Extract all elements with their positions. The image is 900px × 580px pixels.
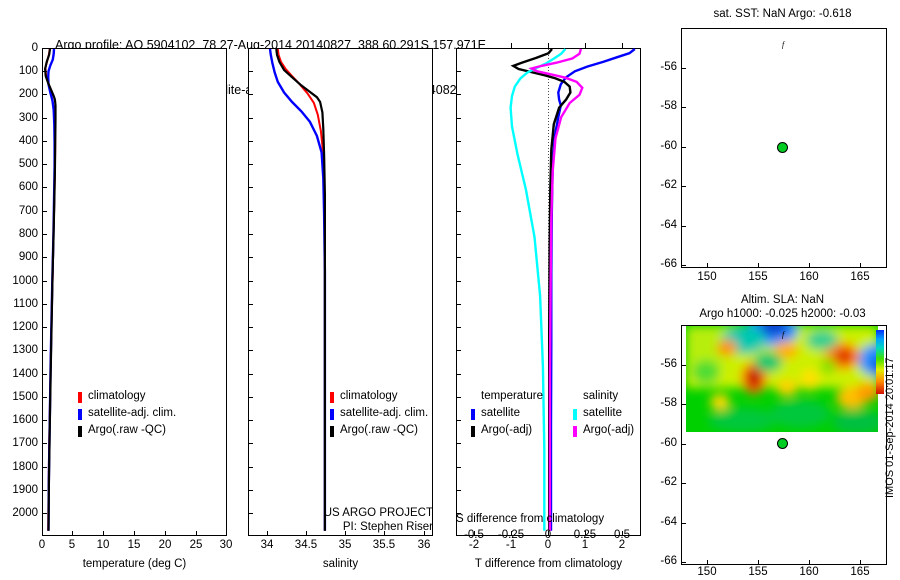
temperature-curves [43,49,226,535]
panel-difference[interactable] [456,48,641,536]
legend-swatch-satellite-adj-clim [78,409,82,420]
curve-temp-argo-adj [513,49,570,531]
curve-salinity-climatology [278,49,325,531]
sla-map-title: Altim. SLA: NaN Argo h1000: -0.025 h2000… [675,293,890,321]
curve-temp-satellite [551,49,635,531]
legend-label-salinity-climatology: climatology [340,390,398,402]
legend-swatch-temp-argo-adj [471,426,475,437]
panel-salinity[interactable] [248,48,433,536]
legend-swatch-climatology [78,392,82,403]
legend-swatch-salinity-argo-raw [330,426,334,437]
sst-map-title: sat. SST: NaN Argo: -0.618 [675,8,890,20]
salinity-axis-label: salinity [248,558,433,570]
legend-label-argo-raw: Argo(.raw -QC) [88,424,166,436]
legend-title-salinity: salinity [583,390,618,402]
legend-title-temperature: temperature [481,390,543,402]
legend-label-sal-satellite: satellite [583,407,622,419]
credit-line-1: US ARGO PROJECT [283,506,433,520]
curve-salinity-satellite-adj [270,49,325,531]
sla-title-line-1: Altim. SLA: NaN [675,293,890,307]
legend-swatch-temp-satellite [471,409,475,420]
difference-top-axis-label: S difference from climatology [456,513,641,525]
panel-temperature[interactable] [42,48,227,536]
float-id-label: f [782,40,786,49]
legend-label-sal-argo-adj: Argo(-adj) [583,424,634,436]
legend-label-climatology: climatology [88,390,146,402]
legend-label-salinity-satellite-adj: satellite-adj. clim. [340,407,428,419]
legend-swatch-sal-satellite [573,409,577,420]
legend-label-salinity-argo-raw: Argo(.raw -QC) [340,424,418,436]
credit-line-2: PI: Stephen Riser [283,520,433,534]
sla-map-float-marker[interactable] [777,438,788,449]
project-credit: US ARGO PROJECT PI: Stephen Riser [283,506,433,534]
imos-timestamp-watermark: IMOS 01-Sep-2014 20:01:17 [884,357,896,498]
legend-label-satellite-adj-clim: satellite-adj. clim. [88,407,176,419]
sst-map-float-marker[interactable] [777,142,788,153]
legend-swatch-salinity-climatology [330,392,334,403]
difference-bottom-axis-label: T difference from climatology [456,558,641,570]
temperature-axis-label: temperature (deg C) [42,558,227,570]
legend-label-temp-argo-adj: Argo(-adj) [481,424,532,436]
difference-curves [457,49,640,535]
sla-title-line-2: Argo h1000: -0.025 h2000: -0.03 [675,307,890,321]
legend-swatch-argo-raw [78,426,82,437]
legend-label-temp-satellite: satellite [481,407,520,419]
colorbar-strip [876,330,884,394]
curve-salinity-argo-raw [276,49,325,531]
legend-swatch-sal-argo-adj [573,426,577,437]
legend-swatch-salinity-satellite-adj [330,409,334,420]
sla-heatmap-field [686,314,898,434]
salinity-curves [249,49,432,535]
